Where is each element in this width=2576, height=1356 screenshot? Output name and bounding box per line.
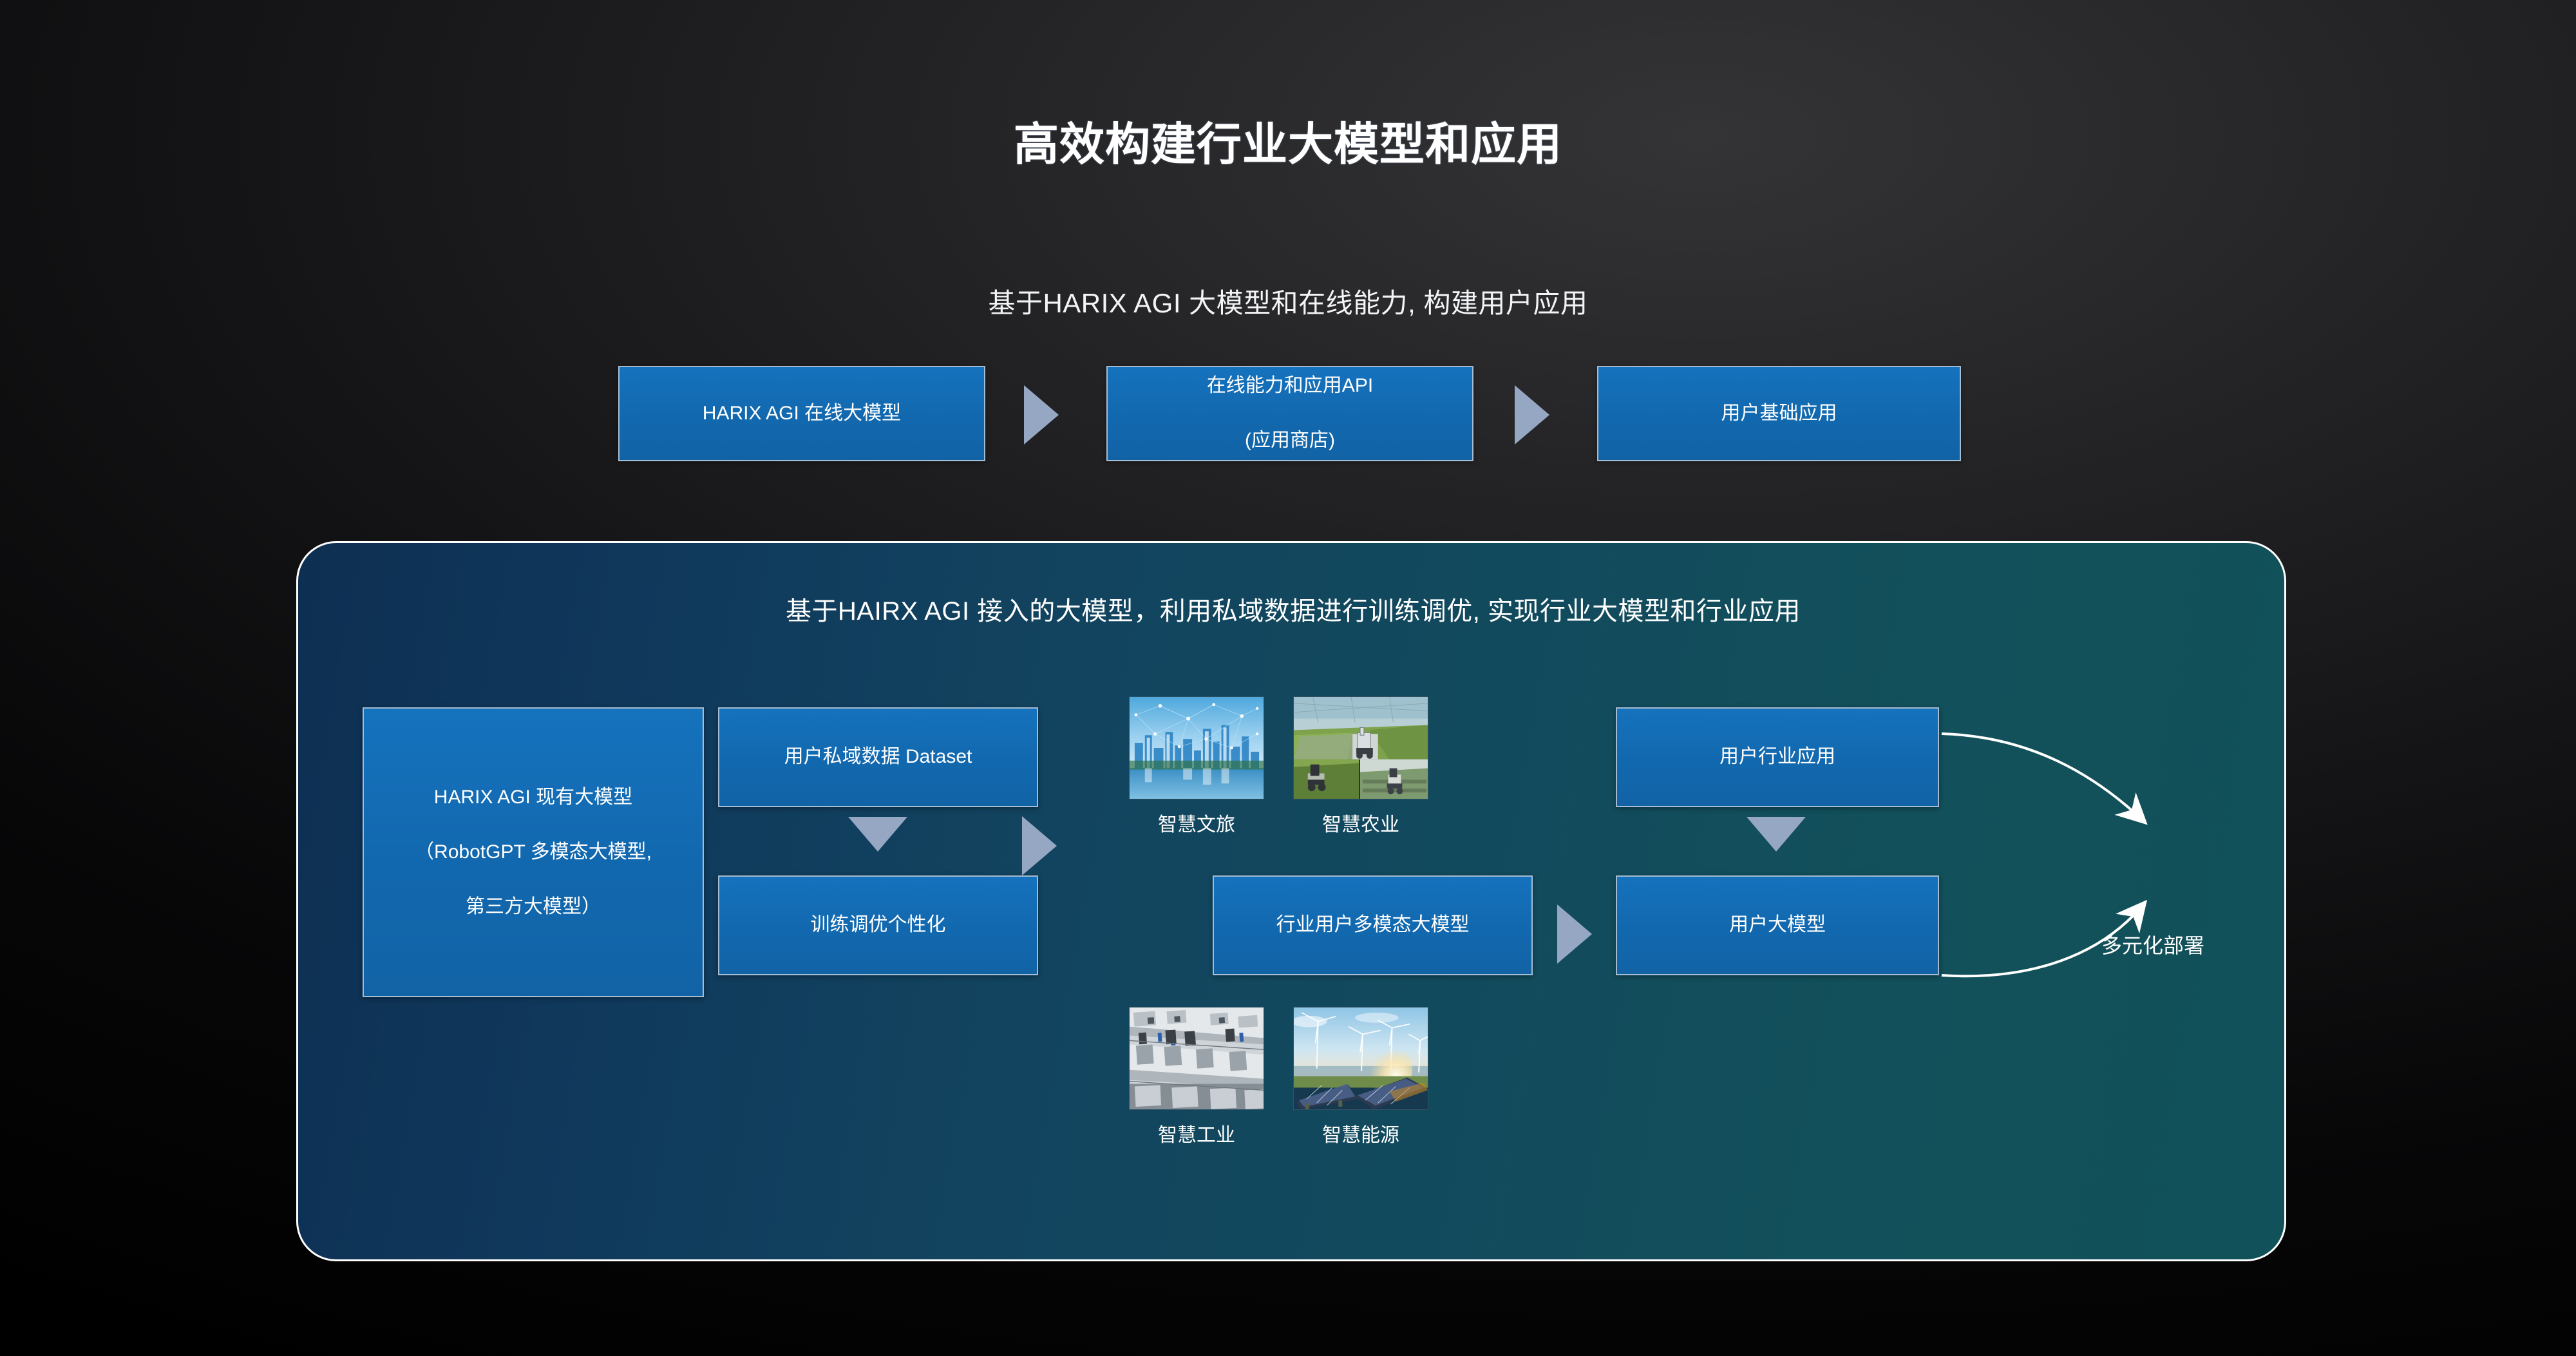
panel-user-model-label: 用户大模型 — [1719, 912, 1836, 939]
thumbnail-caption-smart-agriculture: 智慧农业 — [1274, 808, 1448, 837]
page-title: 高效构建行业大模型和应用 — [0, 108, 2576, 173]
panel-node-training-tuning[interactable]: 训练调优个性化 — [718, 875, 1038, 975]
triangle-right-icon — [1515, 385, 1549, 444]
thumbnail-smart-agriculture[interactable] — [1293, 696, 1428, 799]
panel-heading: 基于HAIRX AGI 接入的大模型，利用私域数据进行训练调优, 实现行业大模型… — [298, 590, 2286, 627]
smart-city-icon — [1130, 697, 1264, 799]
panel-node-private-dataset[interactable]: 用户私域数据 Dataset — [718, 707, 1038, 807]
panel-industry-app-label: 用户行业应用 — [1709, 743, 1846, 771]
panel-node-user-industry-app[interactable]: 用户行业应用 — [1616, 707, 1939, 807]
smart-industry-icon — [1130, 1007, 1264, 1109]
deploy-arrow-top — [1942, 734, 2144, 821]
page-subtitle: 基于HARIX AGI 大模型和在线能力, 构建用户应用 — [0, 282, 2576, 321]
panel-dataset-label: 用户私域数据 Dataset — [774, 743, 983, 771]
triangle-right-icon — [1024, 385, 1059, 444]
industry-model-panel: 基于HAIRX AGI 接入的大模型，利用私域数据进行训练调优, 实现行业大模型… — [296, 541, 2286, 1261]
triangle-down-icon — [1747, 817, 1806, 852]
panel-node-industry-multimodal-model[interactable]: 行业用户多模态大模型 — [1213, 875, 1533, 975]
triangle-down-icon — [848, 817, 907, 852]
deploy-label: 多元化部署 — [2037, 930, 2269, 959]
panel-left-node-line2: （RobotGPT 多模态大模型, — [404, 839, 662, 866]
triangle-right-icon — [1557, 904, 1592, 964]
panel-center-label: 行业用户多模态大模型 — [1266, 912, 1480, 939]
top-flow-node-online-capability-api[interactable]: 在线能力和应用API (应用商店) — [1106, 366, 1473, 461]
thumbnail-caption-smart-city: 智慧文旅 — [1110, 808, 1283, 837]
top-flow-node-3-label: 用户基础应用 — [1711, 400, 1848, 428]
panel-left-node-line1: HARIX AGI 现有大模型 — [404, 784, 662, 812]
top-flow-node-2-label-line2: (应用商店) — [1197, 427, 1383, 455]
thumbnail-smart-city[interactable] — [1129, 696, 1264, 799]
triangle-right-icon — [1022, 816, 1057, 875]
panel-node-user-large-model[interactable]: 用户大模型 — [1616, 875, 1939, 975]
smart-agriculture-icon — [1294, 697, 1428, 799]
panel-left-node-line3: 第三方大模型） — [404, 893, 662, 921]
top-flow-node-2-label-line1: 在线能力和应用API — [1197, 372, 1383, 400]
smart-energy-icon — [1294, 1007, 1428, 1109]
thumbnail-smart-energy[interactable] — [1293, 1007, 1428, 1110]
top-flow-node-1-label: HARIX AGI 在线大模型 — [692, 400, 911, 428]
top-flow-node-user-basic-app[interactable]: 用户基础应用 — [1597, 366, 1961, 461]
thumbnail-caption-smart-industry: 智慧工业 — [1110, 1119, 1283, 1147]
thumbnail-smart-industry[interactable] — [1129, 1007, 1264, 1110]
panel-node-existing-large-models[interactable]: HARIX AGI 现有大模型 （RobotGPT 多模态大模型, 第三方大模型… — [363, 707, 704, 997]
panel-training-label: 训练调优个性化 — [800, 912, 956, 939]
top-flow-node-harix-online-model[interactable]: HARIX AGI 在线大模型 — [618, 366, 985, 461]
thumbnail-caption-smart-energy: 智慧能源 — [1274, 1119, 1448, 1147]
